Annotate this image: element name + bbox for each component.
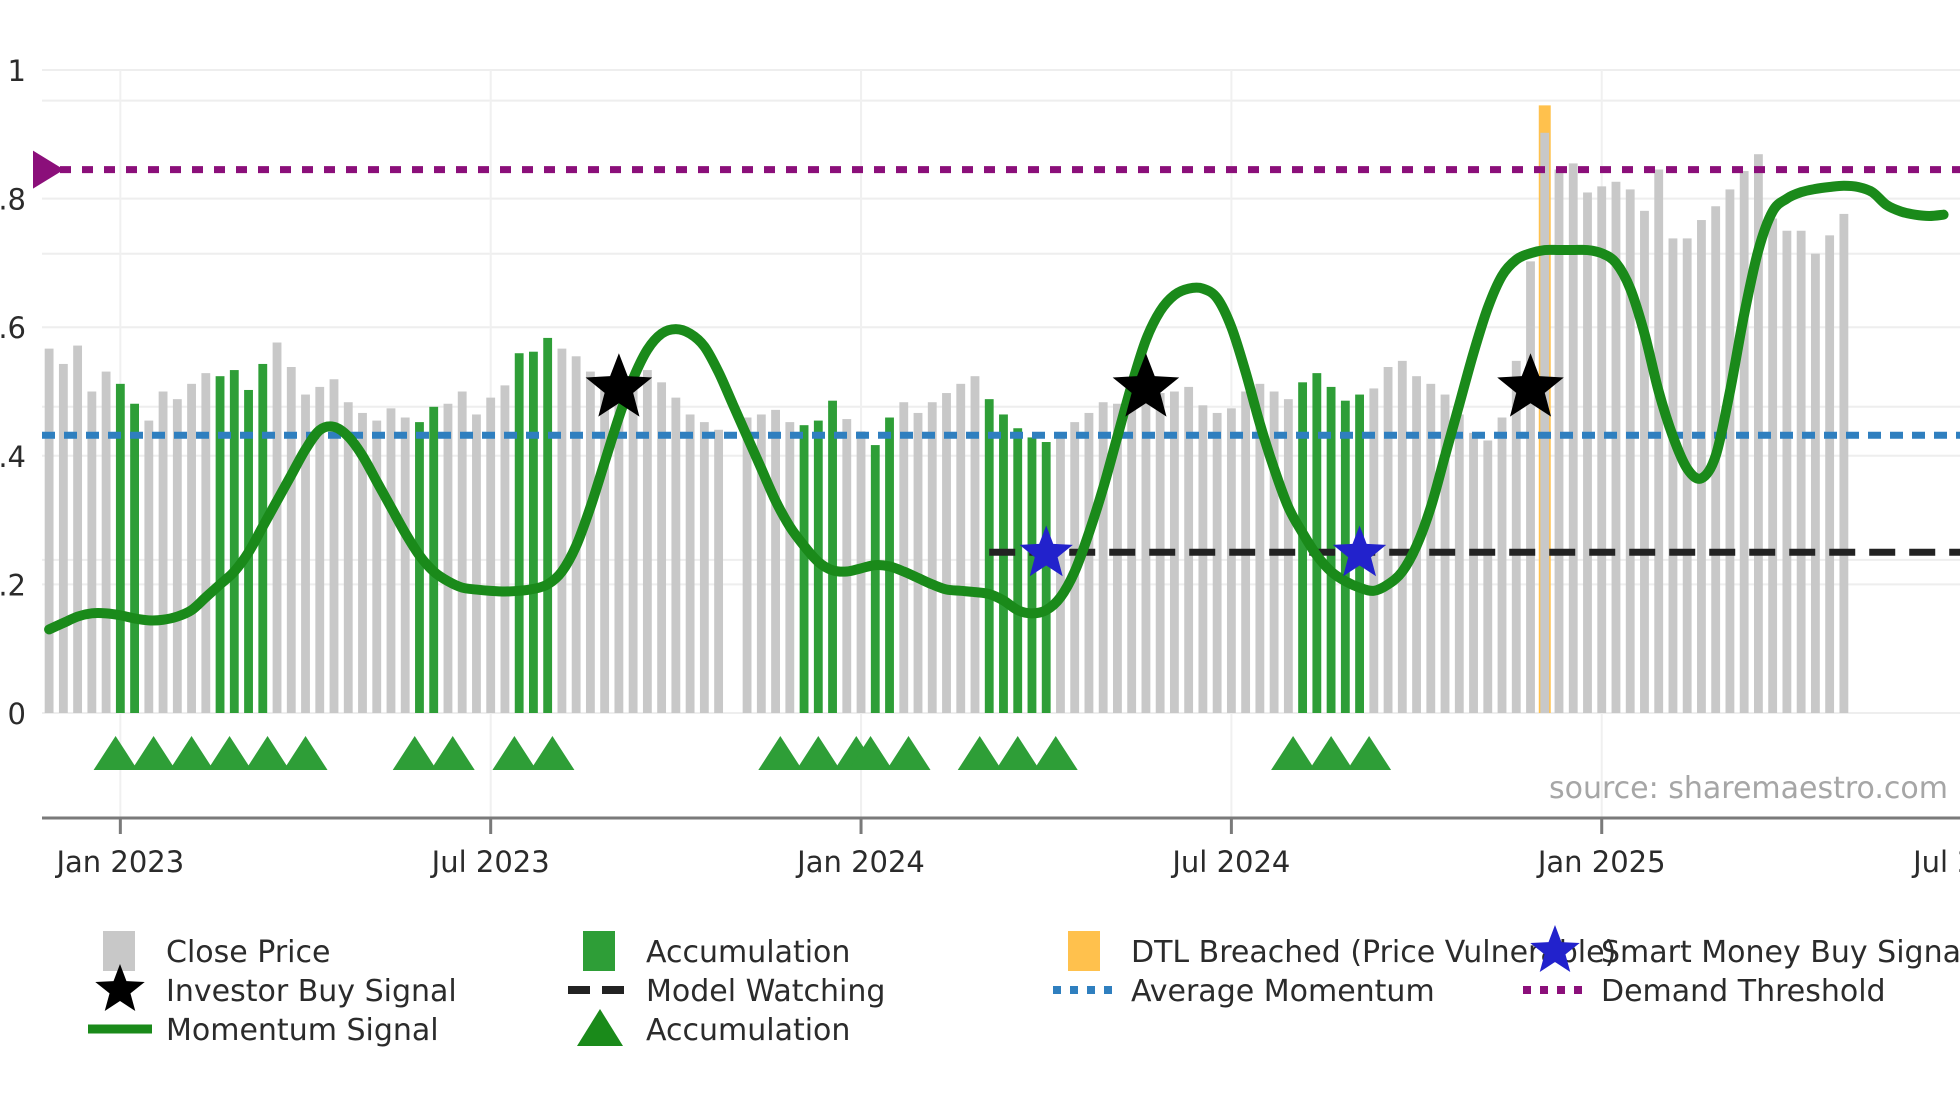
x-tick-label: Jul 2024 [1170,845,1290,879]
accumulation-triangle [1347,736,1391,770]
close-price-bar [1626,189,1635,713]
close-price-bar [956,384,965,713]
close-price-bar [1469,433,1478,713]
close-price-bar [45,349,54,713]
close-price-bar [387,408,396,713]
close-price-bar [942,393,951,713]
accumulation-triangle [996,736,1040,770]
close-price-bar [586,372,595,713]
accumulation-bar [429,407,438,713]
accumulation-bar [230,370,239,713]
close-price-bar [971,376,980,713]
accumulation-bar [999,414,1008,713]
close-price-bar [1455,414,1464,713]
close-price-bar [1697,220,1706,713]
accumulation-bar [1028,437,1037,713]
close-price-bar [771,410,780,713]
accumulation-triangle [132,736,176,770]
accumulation-triangle [208,736,252,770]
close-price-bar [273,343,282,713]
accumulation-triangle [796,736,840,770]
close-price-bar [73,346,82,713]
close-price-bar [1782,231,1791,713]
close-price-bar [59,364,68,713]
close-price-bar [914,413,923,713]
close-price-bar [928,402,937,713]
accumulation-triangle [1309,736,1353,770]
accumulation-bar [1042,442,1051,713]
close-price-bar [486,398,495,713]
close-price-bar [344,402,353,713]
close-price-bar [1540,133,1549,713]
close-price-bar [671,398,680,713]
close-price-bar [1526,261,1535,713]
accumulation-bar [800,425,809,713]
close-price-bar [102,372,111,713]
accumulation-triangle [284,736,328,770]
left-tick-label: 1 [8,54,26,88]
close-price-bar [1839,214,1848,713]
x-tick-label: Jan 2024 [795,845,925,879]
accumulation-bar [985,399,994,713]
close-price-bar [444,404,453,713]
left-tick-label: 0.2 [0,568,26,602]
left-axis: 00.20.40.60.81 [0,54,26,731]
close-price-bar [1825,235,1834,713]
close-price-bar [372,421,381,713]
accumulation-bar [130,404,139,713]
close-price-bar [287,367,296,713]
accumulation-triangle [393,736,437,770]
close-price-bar [1198,405,1207,713]
accumulation-bar [529,352,538,713]
close-price-bar [1768,219,1777,713]
accumulation-triangle [958,736,1002,770]
accumulation-triangle [170,736,214,770]
close-price-bar [1740,171,1749,713]
x-tick-label: Jan 2023 [54,845,184,879]
chart-canvas: Jan 2023Jul 2023Jan 2024Jul 2024Jan 2025… [0,0,1960,1102]
demand-threshold-marker [33,151,64,189]
close-price-bar [458,392,467,714]
close-price-bar [1597,186,1606,713]
accumulation-bar [871,445,880,713]
close-price-bar [159,392,168,714]
source-note: source: sharemaestro.com [1549,771,1948,806]
close-price-bar [899,402,908,713]
accumulation-triangle [887,736,931,770]
x-axis: Jan 2023Jul 2023Jan 2024Jul 2024Jan 2025… [54,818,1960,879]
close-price-bars [45,133,1849,713]
x-tick-label: Jul 2025 [1911,845,1960,879]
close-price-bar [201,373,210,713]
close-price-bar [144,421,153,713]
close-price-bar [1384,367,1393,713]
close-price-bar [1085,413,1094,713]
close-price-bar [1583,192,1592,713]
close-price-bar [700,422,709,713]
close-price-bar [1099,402,1108,713]
left-tick-label: 0.6 [0,311,26,345]
close-price-bar [87,392,96,714]
left-tick-label: 0 [8,697,26,731]
accumulation-bar [415,422,424,713]
close-price-bar [1726,189,1735,713]
close-price-bar [1654,170,1663,713]
close-price-bar [743,418,752,713]
close-price-bar [1498,418,1507,713]
accumulation-triangle [1271,736,1315,770]
accumulation-triangle [530,736,574,770]
close-price-bar [1640,211,1649,713]
close-price-bar [557,349,566,713]
accumulation-bar [216,376,225,713]
close-price-bar [173,399,182,713]
close-price-bar [714,430,723,713]
close-price-bar [1797,231,1806,713]
left-tick-label: 0.8 [0,183,26,217]
close-price-bar [1483,440,1492,713]
x-tick-label: Jul 2023 [430,845,550,879]
accumulation-bar [543,338,552,713]
accumulation-triangle [758,736,802,770]
close-price-bar [785,422,794,713]
accumulation-bar [1013,428,1022,713]
close-price-bar [1213,413,1222,713]
close-price-bar [401,418,410,713]
accumulation-bar [515,353,524,713]
accumulation-triangle [492,736,536,770]
close-price-bar [686,414,695,713]
accumulation-bar [828,401,837,713]
left-tick-label: 0.4 [0,440,26,474]
accumulation-triangles [94,736,1392,770]
accumulation-triangle [1034,736,1078,770]
x-tick-label: Jan 2025 [1536,845,1666,879]
accumulation-triangle [431,736,475,770]
close-price-bar [472,414,481,713]
accumulation-triangle [94,736,138,770]
close-price-bar [1669,238,1678,713]
close-price-bar [187,384,196,713]
accumulation-triangle [246,736,290,770]
close-price-bar [1227,408,1236,713]
chart-container: Jan 2023Jul 2023Jan 2024Jul 2024Jan 2025… [0,0,1960,1102]
close-price-bar [1284,399,1293,713]
close-price-bar [1811,254,1820,713]
close-price-bar [1398,361,1407,713]
close-price-bar [643,370,652,713]
